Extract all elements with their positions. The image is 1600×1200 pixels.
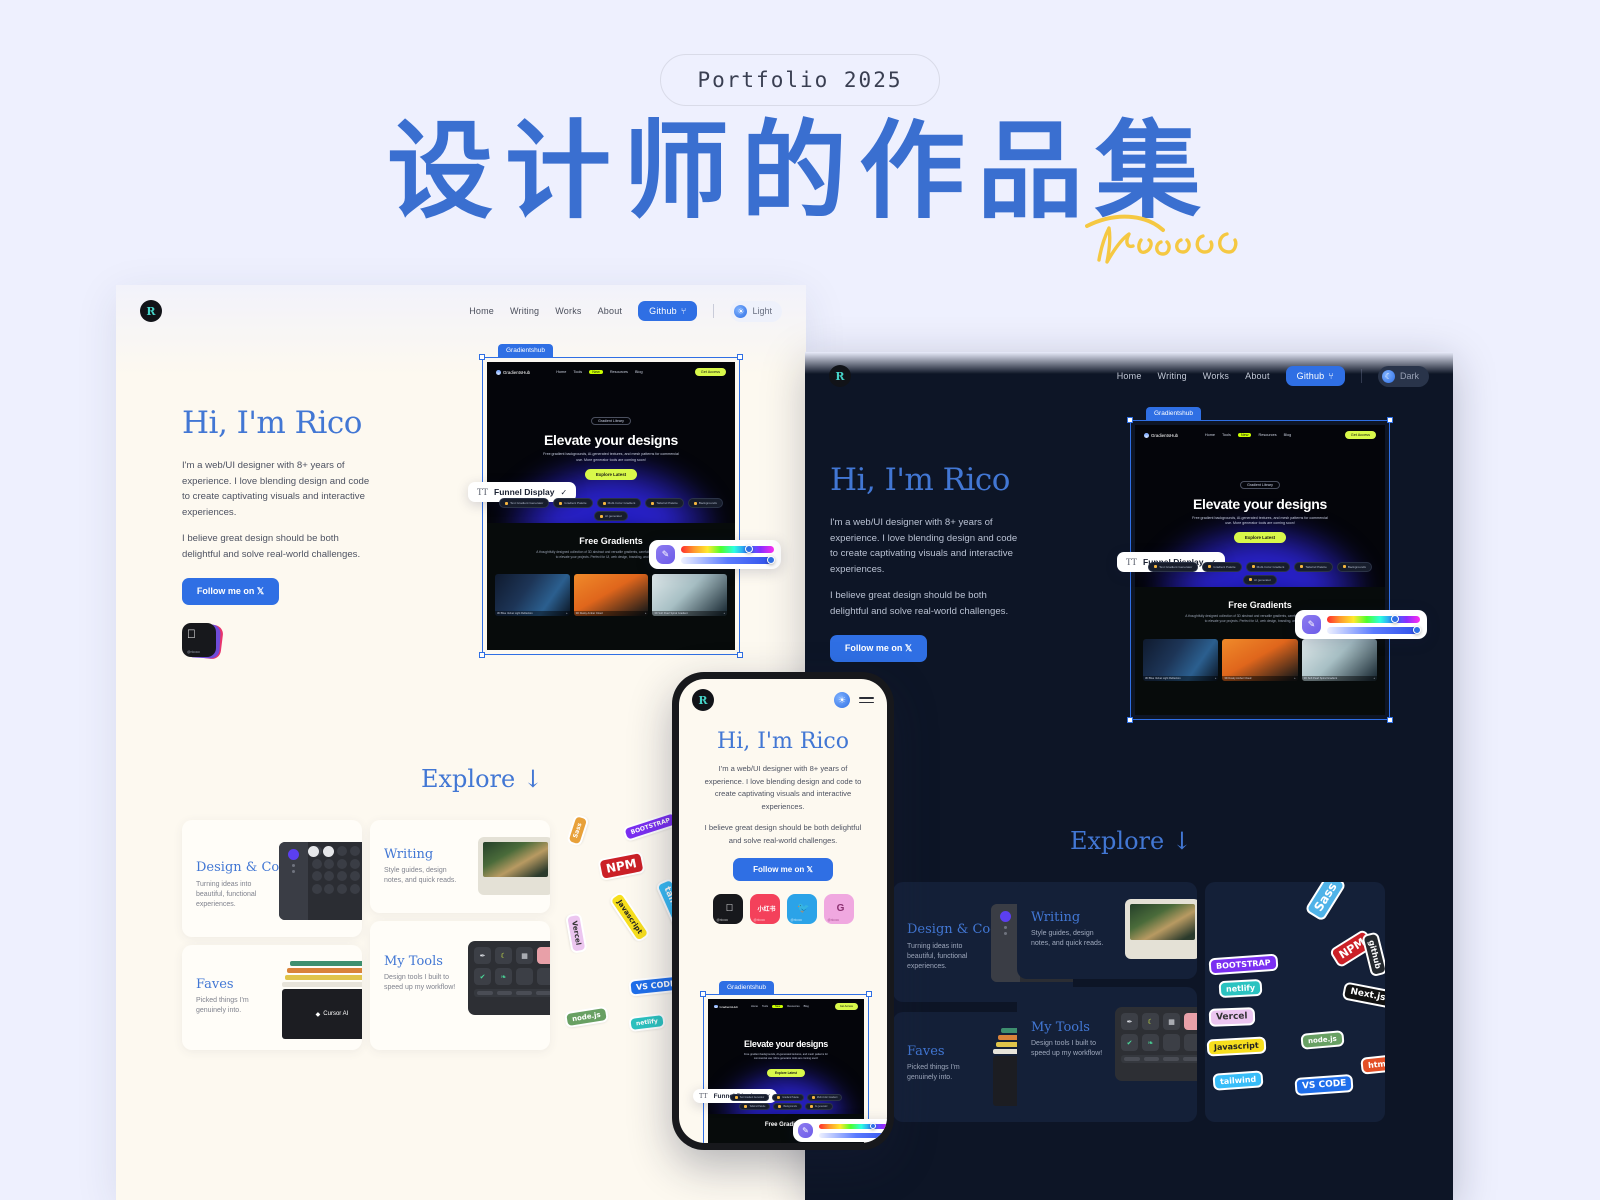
page-title: 设计师的作品集	[0, 118, 1600, 224]
follow-button[interactable]: Follow me on 𝕏	[733, 858, 833, 881]
alpha-slider[interactable]	[681, 557, 774, 564]
resize-handle-tr[interactable]	[737, 354, 743, 360]
gradient-tag: AI generator	[594, 511, 628, 521]
sticker: Sass	[1307, 882, 1344, 919]
sun-icon: ☀	[734, 305, 747, 318]
gradient-tag-row: Text Gradient Generator Gradient Palette…	[1135, 562, 1385, 585]
monitor-base	[483, 877, 548, 886]
social-handle: @ricocc	[828, 918, 840, 922]
card-title: Writing	[384, 847, 433, 862]
gradient-tag: AI generator	[805, 1103, 833, 1110]
gradient-thumb-row: 3D Blue Velvet Light Reflection+ 3D Dusk…	[1135, 639, 1385, 681]
gradient-brand: GradientsHub	[714, 1005, 738, 1009]
tool-icon-pink	[537, 947, 550, 964]
selection-tab-label: Gradientshub	[1146, 407, 1201, 420]
gradient-subtext: Free gradient backgrounds, AI-generated …	[541, 452, 681, 463]
hue-slider[interactable]	[819, 1124, 887, 1129]
selection-tab-label: Gradientshub	[719, 981, 774, 994]
nav-divider	[713, 304, 714, 318]
explore-card-stickers-dark[interactable]: Sass NPM BOOTSTRAP github netlify Next.j…	[1205, 882, 1385, 1122]
gradient-site-menu: Home Tools New Resources Blog	[1205, 433, 1291, 437]
sticker: node.js	[1303, 1032, 1343, 1047]
gradient-headline: Elevate your designs	[1135, 496, 1385, 512]
gradient-site-menu: Home Tools New Resources Blog	[556, 370, 642, 374]
phone-hero: Hi, I'm Rico I'm a web/UI designer with …	[679, 711, 887, 924]
color-picker-light[interactable]: ✎	[649, 540, 781, 569]
sticker: Sass	[569, 817, 587, 845]
keyboard-purple-dot	[288, 849, 299, 860]
sticker: Javascript	[1209, 1039, 1264, 1055]
gradient-hero-text: Gradient Library Elevate your designs Fr…	[1135, 473, 1385, 545]
portfolio-badge: Portfolio 2025	[660, 54, 939, 106]
nav-link-about[interactable]: About	[1245, 371, 1270, 381]
gradient-preview-card-light[interactable]: Gradientshub GradientsHub Home Tools New	[482, 357, 740, 655]
gradient-subtext: Free gradient backgrounds, AI-generated …	[1190, 516, 1330, 527]
sticker: BOOTSTRAP	[625, 813, 677, 839]
tool-icon-grid: ▦	[1163, 1013, 1180, 1030]
site-logo[interactable]: R	[829, 365, 851, 387]
light-nav-links: Home Writing Works About Github ⑂ ☀ Ligh…	[469, 301, 782, 322]
sticker: Javascript	[611, 893, 648, 940]
social-card-twitter[interactable]: 🐦 @ricocc	[787, 894, 817, 924]
gradient-headline: Elevate your designs	[487, 432, 735, 448]
gradient-get-access-button[interactable]: Get Access	[1345, 431, 1376, 439]
hue-slider[interactable]	[681, 546, 774, 553]
gradient-preview-card-dark[interactable]: Gradientshub GradientsHub Home Tools New	[1130, 420, 1390, 720]
pen-icon[interactable]: ✎	[656, 545, 675, 564]
phone-mockup: R ☀ Hi, I'm Rico I'm a web/UI designer w…	[672, 672, 894, 1150]
gradient-brand-label: GradientsHub	[1151, 433, 1178, 438]
xiaohongshu-icon: 小红书	[757, 907, 775, 913]
resize-handle-tr[interactable]	[866, 991, 872, 997]
down-arrow-icon: ↓	[1172, 827, 1192, 855]
social-handle: @ricocc	[791, 918, 803, 922]
alpha-knob	[1413, 626, 1421, 634]
social-card-github[interactable]:  @ricocc	[713, 894, 743, 924]
dark-navbar: R Home Writing Works About Github ⑂ ☾ Da…	[805, 352, 1453, 400]
phone-screen: R ☀ Hi, I'm Rico I'm a web/UI designer w…	[679, 679, 887, 1143]
font-icon: TT	[477, 487, 488, 497]
gradient-tag: Text Gradient Generator	[499, 498, 549, 508]
keyboard-illustration	[279, 842, 362, 920]
picker-sliders	[681, 546, 774, 564]
card-title: Faves	[196, 977, 234, 992]
gradient-site-preview: GradientsHub Home Tools New Resources Bl…	[1135, 425, 1385, 715]
resize-handle-bl[interactable]	[479, 652, 485, 658]
card-stack-front:  @ricocc	[182, 623, 216, 657]
gradient-tag: Tailwind Palette	[645, 498, 684, 508]
gmenu-new-pill: New	[1238, 433, 1252, 437]
gmenu-resources[interactable]: Resources	[787, 1005, 799, 1008]
gradient-chip: Gradient Library	[1240, 481, 1280, 489]
gradient-subtext: Free gradient backgrounds, AI-generated …	[738, 1053, 834, 1061]
gradient-brand: GradientsHub	[496, 370, 530, 375]
selection-tab-label: Gradientshub	[498, 344, 553, 357]
site-logo[interactable]: R	[692, 689, 714, 711]
hue-knob	[870, 1123, 876, 1129]
gradient-free-section: Free Gradients A thoughtfully designed c…	[1135, 587, 1385, 715]
sticker: Next.js	[1344, 984, 1385, 1006]
github-icon: ⑂	[1328, 371, 1334, 381]
hero-para-2: I believe great design should be both de…	[699, 822, 867, 847]
explore-heading-light: Explore ↓	[421, 765, 543, 793]
gradient-brand: GradientsHub	[1144, 433, 1178, 438]
tool-icon-check: ✔	[474, 968, 491, 985]
nav-divider	[1361, 369, 1362, 383]
gmenu-tools[interactable]: Tools	[1222, 433, 1231, 437]
card-desc: Style guides, design notes, and quick re…	[384, 866, 462, 886]
sun-icon[interactable]: ☀	[834, 692, 850, 708]
nav-link-home[interactable]: Home	[1117, 371, 1142, 381]
hero-title: Hi, I'm Rico	[830, 462, 1022, 498]
explore-card-my-tools-dark[interactable]: My Tools Design tools I built to speed u…	[1017, 987, 1197, 1122]
monitor-screen	[1130, 904, 1195, 940]
picker-sliders	[819, 1124, 887, 1138]
explore-card-writing[interactable]: Writing Style guides, design notes, and …	[370, 820, 550, 913]
gradient-tag: Multi-Color Gradient	[807, 1094, 843, 1101]
gmenu-blog[interactable]: Blog	[804, 1005, 809, 1008]
tool-icon-leaf: ❧	[495, 968, 512, 985]
gradient-thumb[interactable]: 3D Soft Pearl Spiral Gradient+	[1302, 639, 1377, 681]
gradient-thumb[interactable]: 3D Dusky Amber Cloud+	[1222, 639, 1297, 681]
hue-knob	[1391, 615, 1399, 623]
monitor-illustration	[478, 837, 550, 895]
github-social-card[interactable]:  @ricocc	[182, 623, 220, 659]
keyboard-purple-dot	[1000, 911, 1011, 922]
gmenu-new-pill: New	[772, 1005, 783, 1008]
hero-para-1: I'm a web/UI designer with 8+ years of e…	[699, 763, 867, 813]
gradient-hero-text: Elevate your designs Free gradient backg…	[708, 1039, 864, 1079]
social-card-xiaohongshu[interactable]: 小红书 @ricocc	[750, 894, 780, 924]
gradient-tag: Gradient Palette	[553, 498, 592, 508]
tool-icon-pink	[1184, 1013, 1197, 1030]
phone-social-row:  @ricocc 小红书 @ricocc 🐦 @ricocc G @ricoc…	[699, 894, 867, 924]
theme-label: Dark	[1400, 371, 1419, 381]
tool-icon-moon: ☾	[1142, 1013, 1159, 1030]
tools-bar	[474, 989, 550, 997]
hero-para-2: I believe great design should be both de…	[830, 588, 1022, 619]
dark-theme-mockup: R Home Writing Works About Github ⑂ ☾ Da…	[805, 352, 1453, 1200]
card-desc: Turning ideas into beautiful, functional…	[196, 880, 266, 910]
gmenu-new-pill: New	[589, 370, 603, 374]
gradient-thumb[interactable]: 3D Blue Velvet Light Reflection+	[1143, 639, 1218, 681]
gradient-site-preview: GradientsHub Home Tools New Resources Bl…	[487, 362, 735, 650]
gmenu-home[interactable]: Home	[751, 1005, 758, 1008]
cursor-ai-label: Cursor AI	[323, 1011, 348, 1017]
tools-bar	[1121, 1055, 1197, 1063]
alpha-knob	[767, 556, 775, 564]
gmenu-blog[interactable]: Blog	[1284, 433, 1292, 437]
tool-icon-grid: ▦	[516, 947, 533, 964]
gmenu-blog[interactable]: Blog	[635, 370, 643, 374]
card-title: Writing	[1031, 910, 1080, 925]
gradient-tag: Multi-Color Gradient	[1246, 562, 1291, 572]
site-logo[interactable]: R	[140, 300, 162, 322]
github-icon: 	[187, 628, 216, 640]
tool-icon-blank	[1184, 1034, 1197, 1051]
gmenu-resources[interactable]: Resources	[610, 370, 628, 374]
gmail-icon: G	[837, 903, 845, 914]
gmenu-tools[interactable]: Tools	[573, 370, 582, 374]
card-desc: Picked things I'm genuinely into.	[196, 996, 266, 1016]
gradient-explore-button[interactable]: Explore Latest	[767, 1069, 805, 1077]
sticker: NPM	[600, 853, 643, 878]
sticker: netlify	[630, 1015, 663, 1030]
gradient-brand-icon	[496, 370, 501, 375]
check-icon: ✓	[560, 488, 567, 497]
gradient-hero-area: GradientsHub Home Tools New Resources Bl…	[708, 999, 864, 1114]
gradient-tag: Backgrounds	[1337, 562, 1372, 572]
gradient-brand-label: GradientsHub	[503, 370, 530, 375]
explore-heading-dark: Explore ↓	[1070, 827, 1192, 855]
sticker-collage-dark: Sass NPM BOOTSTRAP github netlify Next.j…	[1205, 882, 1385, 1122]
faves-illustration: ◆ Cursor AI	[282, 961, 362, 1039]
cursor-cube-icon: ◆	[316, 1011, 321, 1018]
pen-icon[interactable]: ✎	[1302, 615, 1321, 634]
explore-card-writing-dark[interactable]: Writing Style guides, design notes, and …	[1017, 882, 1197, 979]
moon-icon: ☾	[1382, 370, 1395, 383]
card-desc: Design tools I built to speed up my work…	[384, 973, 456, 993]
phone-navbar: R ☀	[679, 679, 887, 711]
nav-link-about[interactable]: About	[598, 306, 623, 316]
hero-title: Hi, I'm Rico	[182, 405, 374, 441]
keyboard-side-panel	[279, 842, 308, 920]
gradient-brand-icon	[714, 1005, 718, 1009]
card-title: Faves	[907, 1044, 945, 1059]
hero-title: Hi, I'm Rico	[699, 729, 867, 754]
gradient-tag: Backgrounds	[688, 498, 723, 508]
nav-link-works[interactable]: Works	[555, 306, 581, 316]
resize-handle-br[interactable]	[737, 652, 743, 658]
gradient-thumb[interactable]: 3D Dusky Amber Cloud+	[574, 574, 649, 616]
gradient-hero-area: GradientsHub Home Tools New Resources Bl…	[1135, 425, 1385, 587]
hero-para-2: I believe great design should be both de…	[182, 531, 374, 562]
nav-link-writing[interactable]: Writing	[1158, 371, 1187, 381]
gmenu-home[interactable]: Home	[556, 370, 566, 374]
pen-icon[interactable]: ✎	[798, 1123, 813, 1138]
explore-card-design-code[interactable]: Design & Code Turning ideas into beautif…	[182, 820, 362, 937]
github-button[interactable]: Github ⑂	[638, 301, 697, 321]
gradient-site-menu: Home Tools New Resources Blog	[751, 1005, 809, 1008]
social-handle: @ricocc	[754, 918, 766, 922]
card-desc: Picked things I'm genuinely into.	[907, 1063, 977, 1083]
picker-sliders	[1327, 616, 1420, 634]
tool-icon-check: ✔	[1121, 1034, 1138, 1051]
monitor-screen	[483, 842, 548, 877]
keyboard-top-keys	[308, 846, 362, 857]
gradient-explore-button[interactable]: Explore Latest	[585, 469, 637, 480]
follow-button[interactable]: Follow me on 𝕏	[182, 578, 279, 605]
gradient-site-nav: GradientsHub Home Tools New Resources Bl…	[1135, 425, 1385, 445]
social-handle: @ricocc	[717, 918, 729, 922]
monitor-base	[1130, 940, 1195, 949]
gradient-tag: Text Gradient Generator	[730, 1094, 770, 1101]
color-picker-phone[interactable]: ✎	[793, 1119, 887, 1142]
gradient-thumb[interactable]: 3D Blue Velvet Light Reflection+	[495, 574, 570, 616]
sticker: VS CODE	[1297, 1076, 1352, 1094]
sticker: html	[1362, 1056, 1385, 1072]
card-desc: Turning ideas into beautiful, functional…	[907, 942, 977, 972]
tools-illustration: ✒ ☾ ▦ ✔ ❧	[468, 941, 550, 1015]
sticker: BOOTSTRAP	[1211, 956, 1276, 973]
gradient-get-access-button[interactable]: Get Access	[695, 368, 726, 376]
gradient-brand-label: GradientsHub	[720, 1005, 739, 1009]
tools-illustration: ✒ ☾ ▦ ✔ ❧	[1115, 1007, 1197, 1081]
font-name: Funnel Display	[494, 487, 554, 497]
gradient-hero-text: Gradient Library Elevate your designs Fr…	[487, 409, 735, 481]
light-hero: Hi, I'm Rico I'm a web/UI designer with …	[182, 405, 374, 659]
sticker: node.js	[566, 1008, 606, 1026]
card-title: My Tools	[1031, 1020, 1090, 1035]
alpha-slider[interactable]	[819, 1133, 887, 1138]
cursor-ai-screen: ◆ Cursor AI	[282, 989, 362, 1039]
dark-nav-links: Home Writing Works About Github ⑂ ☾ Dark	[1117, 366, 1429, 387]
explore-card-my-tools[interactable]: My Tools Design tools I built to speed u…	[370, 921, 550, 1050]
nav-link-writing[interactable]: Writing	[510, 306, 539, 316]
tool-icon-blank	[1163, 1034, 1180, 1051]
sticker: Vercel	[1211, 1009, 1253, 1024]
hero-para-1: I'm a web/UI designer with 8+ years of e…	[830, 515, 1022, 577]
tool-icon-pen: ✒	[1121, 1013, 1138, 1030]
free-gradients-title: Free Gradients	[1135, 600, 1385, 610]
gradient-headline: Elevate your designs	[708, 1039, 864, 1049]
gradient-tag: AI generator	[1243, 575, 1277, 585]
follow-button[interactable]: Follow me on 𝕏	[830, 635, 927, 662]
hue-knob	[745, 545, 753, 553]
sticker: Vercel	[567, 915, 585, 951]
gradient-tag: Tailwind Palette	[739, 1103, 770, 1110]
sticker: netlify	[1221, 981, 1261, 996]
font-icon: TT	[699, 1092, 708, 1100]
sticker: github	[1364, 934, 1385, 975]
gradient-tag: Backgrounds	[773, 1103, 801, 1110]
tool-icon-leaf: ❧	[1142, 1034, 1159, 1051]
explore-label: Explore	[1070, 827, 1164, 855]
hero-para-1: I'm a web/UI designer with 8+ years of e…	[182, 458, 374, 520]
explore-card-faves[interactable]: Faves Picked things I'm genuinely into. …	[182, 945, 362, 1050]
gradient-site-nav: GradientsHub Home Tools New Resources Bl…	[708, 999, 864, 1014]
sticker: tailwind	[1215, 1072, 1262, 1088]
github-label: Github	[649, 306, 677, 316]
gradient-brand-icon	[1144, 433, 1149, 438]
gradient-tag: Multi-Color Gradient	[597, 498, 642, 508]
github-icon: ⑂	[681, 306, 687, 316]
light-navbar: R Home Writing Works About Github ⑂ ☀ Li…	[116, 285, 806, 337]
resize-handle-tr[interactable]	[1387, 417, 1393, 423]
tool-icon-moon: ☾	[495, 947, 512, 964]
gradient-tag: Tailwind Palette	[1294, 562, 1333, 572]
gradient-thumb[interactable]: 3D Soft Pearl Spiral Gradient+	[652, 574, 727, 616]
social-card-gmail[interactable]: G @ricocc	[824, 894, 854, 924]
github-handle: @ricocc	[187, 650, 200, 654]
gradient-tag-row: Text Gradient Generator Gradient Palette…	[708, 1094, 864, 1110]
gradient-tag: Text Gradient Generator	[1148, 562, 1198, 572]
resize-handle-bl[interactable]	[1127, 717, 1133, 723]
card-desc: Style guides, design notes, and quick re…	[1031, 929, 1109, 949]
phone-nav-right: ☀	[834, 692, 874, 708]
down-arrow-icon: ↓	[523, 765, 543, 793]
gradient-site-nav: GradientsHub Home Tools New Resources Bl…	[487, 362, 735, 382]
gradient-tag-row: Text Gradient Generator Gradient Palette…	[487, 498, 735, 521]
card-title: My Tools	[384, 954, 443, 969]
alpha-slider[interactable]	[1327, 627, 1420, 634]
hue-slider[interactable]	[1327, 616, 1420, 623]
twitter-icon: 🐦	[797, 903, 809, 914]
gmenu-tools[interactable]: Tools	[762, 1005, 768, 1008]
gmenu-resources[interactable]: Resources	[1258, 433, 1276, 437]
gradient-chip: Gradient Library	[591, 417, 631, 425]
nav-link-home[interactable]: Home	[469, 306, 494, 316]
gradient-tag: Gradient Palette	[772, 1094, 804, 1101]
github-icon: 	[726, 903, 734, 914]
tool-icon-blank	[537, 968, 550, 985]
gradient-get-access-button[interactable]: Get Access	[835, 1003, 858, 1010]
github-button[interactable]: Github ⑂	[1286, 366, 1345, 386]
nav-link-works[interactable]: Works	[1203, 371, 1229, 381]
resize-handle-br[interactable]	[1387, 717, 1393, 723]
resize-handle-tl[interactable]	[479, 354, 485, 360]
tool-icon-blank	[516, 968, 533, 985]
keyboard-side-panel	[991, 904, 1020, 982]
gradient-hero-area: GradientsHub Home Tools New Resources Bl…	[487, 362, 735, 523]
monitor-illustration	[1125, 899, 1197, 959]
gradient-explore-button[interactable]: Explore Latest	[1234, 532, 1286, 543]
explore-label: Explore	[421, 765, 515, 793]
gmenu-home[interactable]: Home	[1205, 433, 1215, 437]
resize-handle-tl[interactable]	[700, 991, 706, 997]
card-desc: Design tools I built to speed up my work…	[1031, 1039, 1103, 1059]
theme-toggle-dark[interactable]: ☾ Dark	[1378, 366, 1429, 387]
resize-handle-tl[interactable]	[1127, 417, 1133, 423]
theme-label: Light	[752, 306, 772, 316]
gradient-tag: Gradient Palette	[1202, 562, 1241, 572]
page-badge-wrap: Portfolio 2025	[0, 54, 1600, 106]
hamburger-menu-icon[interactable]	[859, 697, 874, 703]
theme-toggle-light[interactable]: ☀ Light	[730, 301, 782, 322]
gradient-thumb-row: 3D Blue Velvet Light Reflection+ 3D Dusk…	[487, 574, 735, 616]
tool-icon-pen: ✒	[474, 947, 491, 964]
color-picker-dark[interactable]: ✎	[1295, 610, 1427, 639]
github-label: Github	[1297, 371, 1325, 381]
